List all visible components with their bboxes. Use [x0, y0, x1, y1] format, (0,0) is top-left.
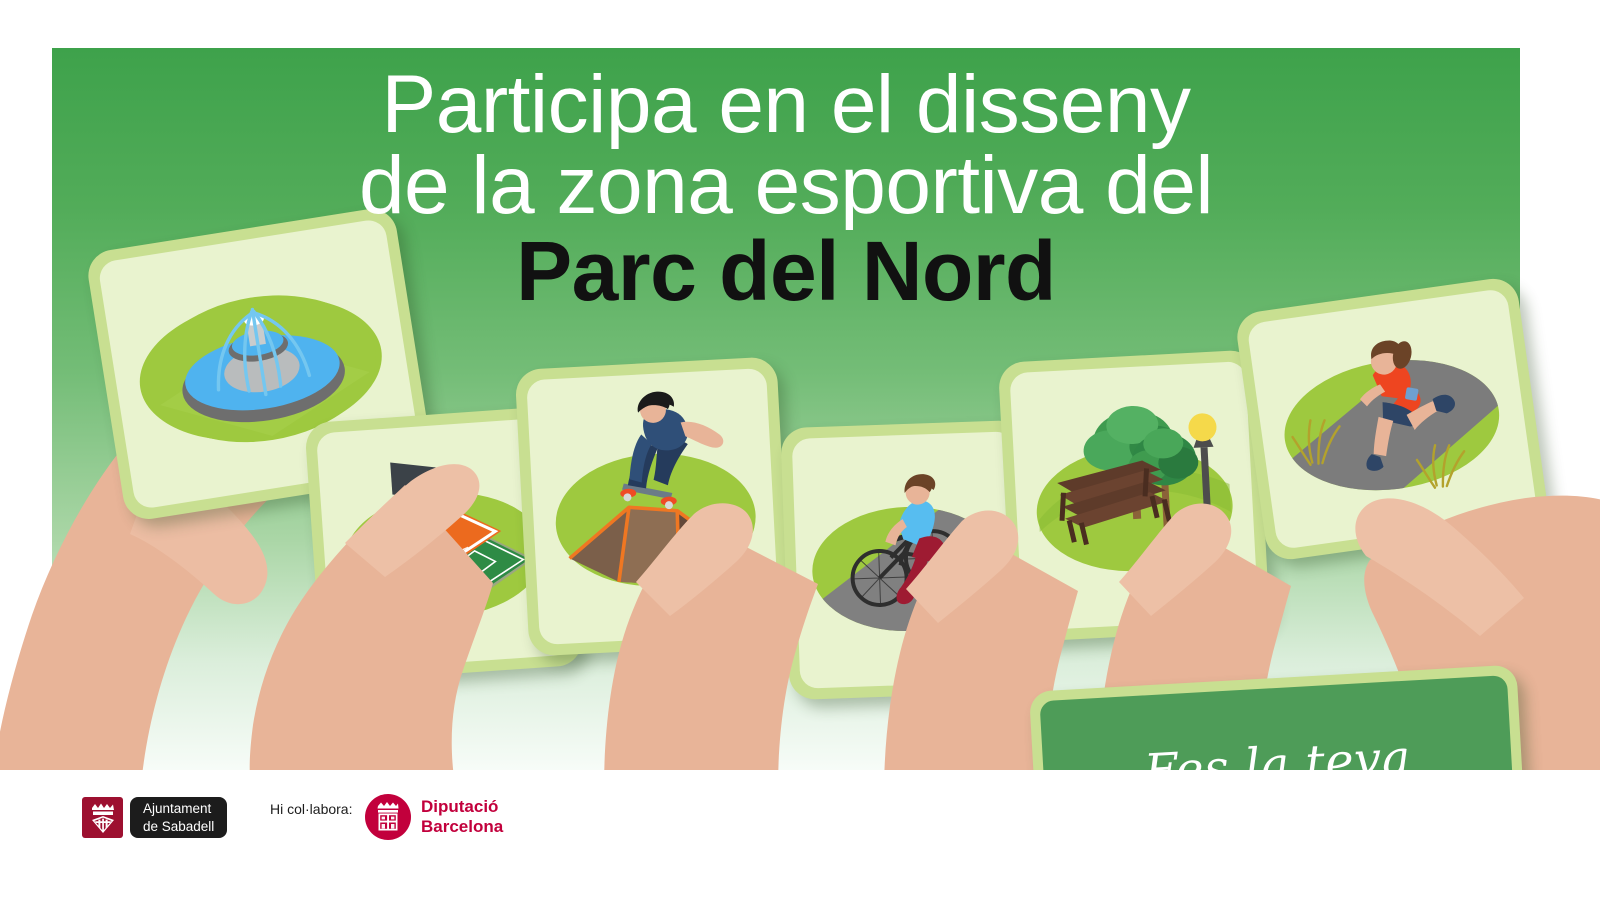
- sabadell-coat-of-arms-icon: [82, 797, 123, 838]
- diputacio-line-2: Barcelona: [421, 817, 503, 837]
- diputacio-name: Diputació Barcelona: [421, 797, 503, 837]
- logo-ajuntament-de-sabadell[interactable]: Ajuntament de Sabadell: [82, 797, 227, 838]
- logo-diputacio-barcelona[interactable]: Diputació Barcelona: [365, 794, 503, 840]
- sabadell-name-plate: Ajuntament de Sabadell: [130, 797, 227, 838]
- collaborate-label: Hi col·labora:: [270, 801, 352, 817]
- diputacio-line-1: Diputació: [421, 797, 503, 817]
- poster-root: Participa en el disseny de la zona espor…: [0, 0, 1600, 900]
- sabadell-line-2: de Sabadell: [143, 818, 214, 835]
- sabadell-line-1: Ajuntament: [143, 800, 214, 817]
- hand-index-pointing-card-1: [205, 455, 495, 785]
- footer-bar: Ajuntament de Sabadell Hi col·labora:: [0, 770, 1600, 900]
- diputacio-barcelona-crest-icon: [365, 794, 411, 840]
- hand-index-pointing-card-3: [570, 500, 820, 790]
